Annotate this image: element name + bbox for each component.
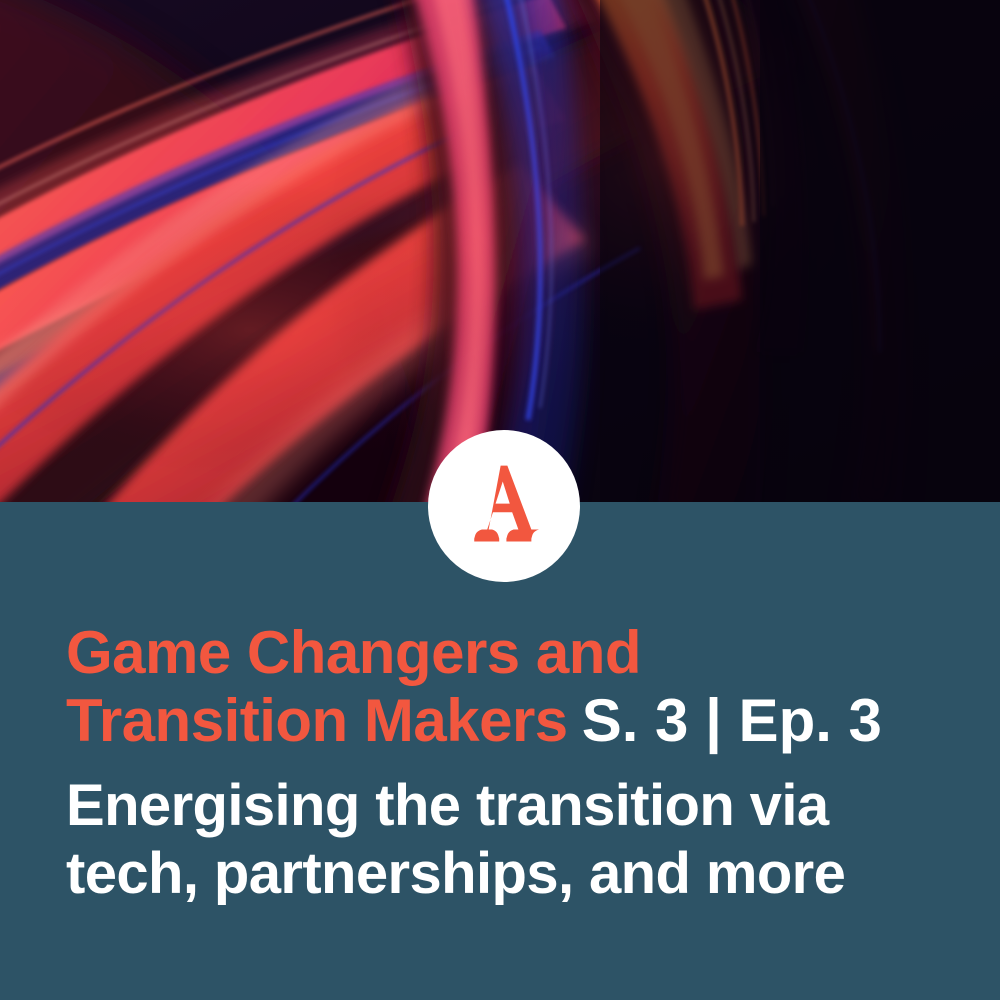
show-title-line-1: Game Changers and: [66, 620, 946, 686]
brand-logo-a-icon: [456, 458, 552, 554]
artwork-abstract-neon-curves: [0, 0, 1000, 502]
episode-title-line-2: tech, partnerships, and more: [66, 840, 946, 908]
episode-title-line-1: Energising the transition via: [66, 772, 946, 840]
show-title-line-1-text: Game Changers and: [66, 619, 641, 686]
brand-logo-badge: [428, 430, 580, 582]
cover-text-block: Game Changers and Transition MakersS. 3 …: [66, 620, 946, 909]
episode-title: Energising the transition via tech, part…: [66, 772, 946, 909]
episode-number-badge: S. 3 | Ep. 3: [582, 687, 882, 754]
podcast-episode-cover: Game Changers and Transition MakersS. 3 …: [0, 0, 1000, 1000]
show-title-line-2-text: Transition Makers: [66, 687, 568, 754]
show-title-line-2: Transition MakersS. 3 | Ep. 3: [66, 688, 946, 754]
